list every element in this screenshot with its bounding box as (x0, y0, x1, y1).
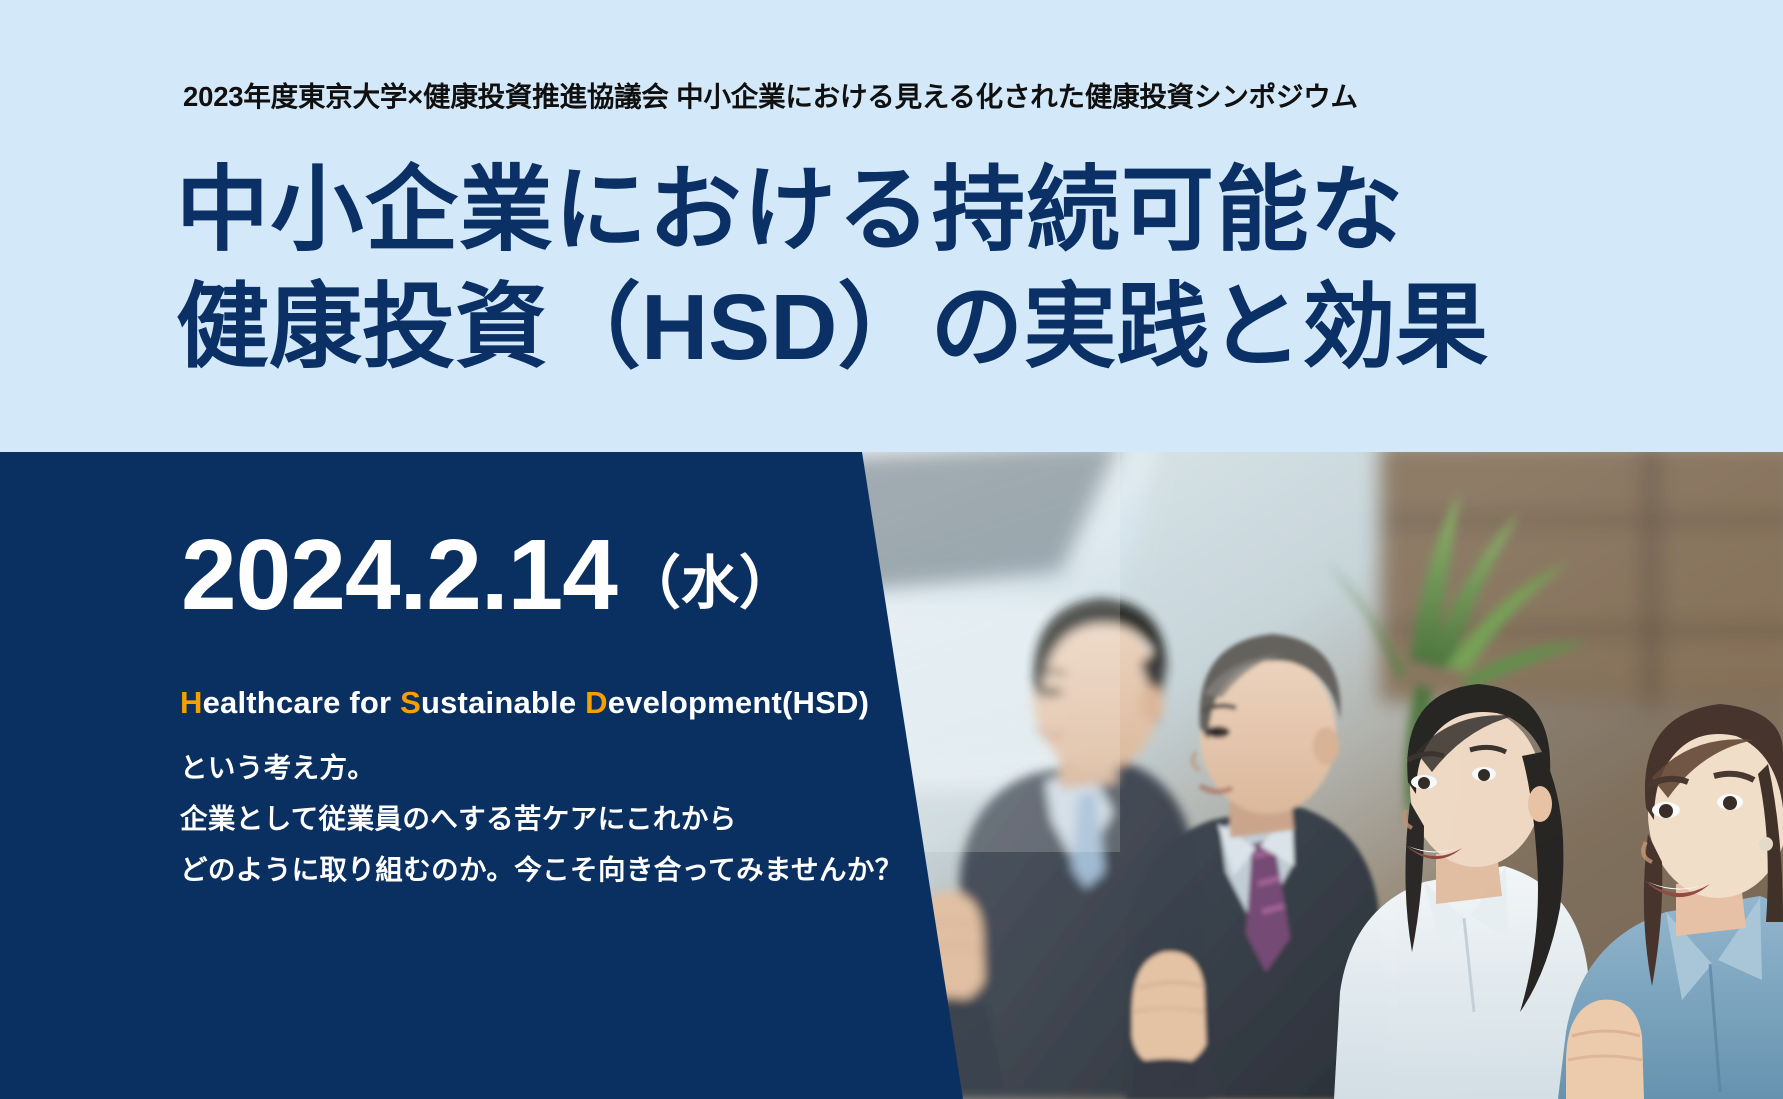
header-band: 2023年度東京大学×健康投資推進協議会 中小企業における見える化された健康投資… (0, 0, 1783, 452)
description-line-2: 企業として従業員のへする苦ケアにこれから (180, 793, 903, 844)
title-line-2: 健康投資（HSD）の実践と効果 (176, 269, 1576, 386)
tagline-initial-s: S (400, 685, 421, 720)
tagline-part-3: evelopment(HSD) (608, 685, 869, 720)
description-line-3: どのように取り組むのか。今こそ向き合ってみませんか？ (180, 844, 903, 895)
tagline-part-1: ealthcare for (203, 685, 401, 720)
event-date: 2024.2.14（水） (181, 525, 797, 640)
event-kicker: 2023年度東京大学×健康投資推進協議会 中小企業における見える化された健康投資… (183, 82, 1583, 112)
tagline-part-2: ustainable (421, 685, 585, 720)
poster-canvas: 2023年度東京大学×健康投資推進協議会 中小企業における見える化された健康投資… (0, 0, 1783, 1099)
event-day-of-week: （水） (623, 551, 797, 616)
navy-panel-content: 2024.2.14（水） Healthcare for Sustainable … (0, 452, 1000, 1099)
title-line-1: 中小企業における持続可能な (176, 152, 1576, 269)
description-text: という考え方。 企業として従業員のへする苦ケアにこれから どのように取り組むのか… (180, 742, 903, 895)
tagline-initial-h: H (180, 685, 203, 720)
tagline-initial-d: D (585, 685, 608, 720)
hsd-tagline: Healthcare for Sustainable Development(H… (180, 685, 869, 721)
event-date-value: 2024.2.14 (181, 519, 617, 631)
description-line-1: という考え方。 (180, 742, 903, 793)
page-title: 中小企業における持続可能な 健康投資（HSD）の実践と効果 (176, 152, 1576, 386)
